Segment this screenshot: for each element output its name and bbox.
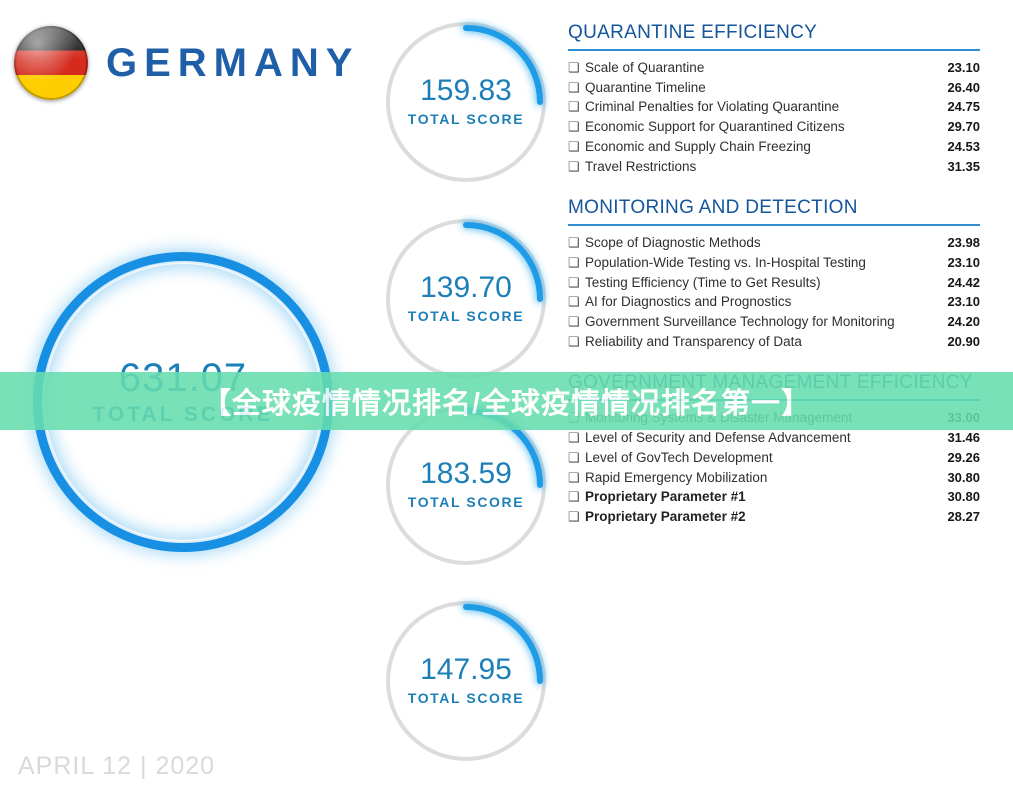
score-row: ❑Level of Security and Defense Advanceme… [568, 428, 980, 448]
score-row-value: 28.27 [924, 507, 980, 527]
score-row-label: Proprietary Parameter #2 [585, 507, 924, 527]
country-name: GERMANY [106, 41, 359, 86]
checkbox-icon: ❑ [568, 157, 585, 177]
score-row: ❑Proprietary Parameter #130.80 [568, 487, 980, 507]
score-row-value: 24.75 [924, 97, 980, 117]
score-row: ❑Economic and Supply Chain Freezing24.53 [568, 137, 980, 157]
score-row: ❑Rapid Emergency Mobilization30.80 [568, 468, 980, 488]
score-row-label: Quarantine Timeline [585, 78, 924, 98]
score-row-value: 23.10 [924, 253, 980, 273]
checkbox-icon: ❑ [568, 448, 585, 468]
score-section: MONITORING AND DETECTION❑Scope of Diagno… [568, 197, 980, 351]
checkbox-icon: ❑ [568, 312, 585, 332]
score-row-value: 30.80 [924, 468, 980, 488]
score-row: ❑Criminal Penalties for Violating Quaran… [568, 97, 980, 117]
score-row-value: 31.46 [924, 428, 980, 448]
score-row-label: Level of Security and Defense Advancemen… [585, 428, 924, 448]
score-row: ❑Government Surveillance Technology for … [568, 312, 980, 332]
checkbox-icon: ❑ [568, 292, 585, 312]
ring-text: 159.83TOTAL SCORE [386, 74, 546, 127]
report-date: APRIL 12 | 2020 [18, 752, 215, 781]
country-header: GERMANY [14, 26, 359, 100]
score-row-value: 23.10 [924, 58, 980, 78]
score-row-label: Testing Efficiency (Time to Get Results) [585, 273, 924, 293]
score-row-value: 23.98 [924, 233, 980, 253]
ring-text: 183.59TOTAL SCORE [386, 457, 546, 510]
score-row-value: 29.70 [924, 117, 980, 137]
category-score-ring: 139.70TOTAL SCORE [386, 219, 546, 379]
checkbox-icon: ❑ [568, 253, 585, 273]
checkbox-icon: ❑ [568, 78, 585, 98]
score-row-value: 26.40 [924, 78, 980, 98]
score-row-label: AI for Diagnostics and Prognostics [585, 292, 924, 312]
score-row-value: 24.42 [924, 273, 980, 293]
checkbox-icon: ❑ [568, 428, 585, 448]
overlay-banner-text: 【全球疫情情况排名/全球疫情情况排名第一】 [202, 380, 811, 422]
ring-score-value: 139.70 [386, 271, 546, 305]
ring-text: 147.95TOTAL SCORE [386, 653, 546, 706]
score-row: ❑Testing Efficiency (Time to Get Results… [568, 273, 980, 293]
category-score-ring: 159.83TOTAL SCORE [386, 22, 546, 182]
score-row-label: Criminal Penalties for Violating Quarant… [585, 97, 924, 117]
checkbox-icon: ❑ [568, 137, 585, 157]
score-row-label: Scale of Quarantine [585, 58, 924, 78]
ring-text: 139.70TOTAL SCORE [386, 271, 546, 324]
score-row: ❑Population-Wide Testing vs. In-Hospital… [568, 253, 980, 273]
section-title: MONITORING AND DETECTION [568, 197, 980, 219]
score-row: ❑Economic Support for Quarantined Citize… [568, 117, 980, 137]
germany-flag-icon [14, 26, 88, 100]
score-row-label: Economic Support for Quarantined Citizen… [585, 117, 924, 137]
ring-score-value: 159.83 [386, 74, 546, 108]
score-row-label: Population-Wide Testing vs. In-Hospital … [585, 253, 924, 273]
score-sections: QUARANTINE EFFICIENCY❑Scale of Quarantin… [568, 22, 980, 548]
ring-score-label: TOTAL SCORE [386, 690, 546, 706]
checkbox-icon: ❑ [568, 58, 585, 78]
score-row-value: 20.90 [924, 332, 980, 352]
score-row: ❑Reliability and Transparency of Data20.… [568, 332, 980, 352]
score-row: ❑Scale of Quarantine23.10 [568, 58, 980, 78]
score-row-label: Reliability and Transparency of Data [585, 332, 924, 352]
overlay-banner: 【全球疫情情况排名/全球疫情情况排名第一】 [0, 372, 1013, 430]
checkbox-icon: ❑ [568, 468, 585, 488]
score-row: ❑Scope of Diagnostic Methods23.98 [568, 233, 980, 253]
score-row-value: 24.20 [924, 312, 980, 332]
score-row: ❑Level of GovTech Development29.26 [568, 448, 980, 468]
ring-score-label: TOTAL SCORE [386, 494, 546, 510]
checkbox-icon: ❑ [568, 273, 585, 293]
score-row-label: Level of GovTech Development [585, 448, 924, 468]
section-divider [568, 224, 980, 226]
ring-score-value: 183.59 [386, 457, 546, 491]
checkbox-icon: ❑ [568, 233, 585, 253]
checkbox-icon: ❑ [568, 507, 585, 527]
score-row-label: Travel Restrictions [585, 157, 924, 177]
score-row-label: Rapid Emergency Mobilization [585, 468, 924, 488]
score-row: ❑Proprietary Parameter #228.27 [568, 507, 980, 527]
section-title: QUARANTINE EFFICIENCY [568, 22, 980, 44]
checkbox-icon: ❑ [568, 332, 585, 352]
score-row-value: 23.10 [924, 292, 980, 312]
checkbox-icon: ❑ [568, 487, 585, 507]
checkbox-icon: ❑ [568, 97, 585, 117]
ring-score-label: TOTAL SCORE [386, 308, 546, 324]
score-row: ❑Quarantine Timeline26.40 [568, 78, 980, 98]
score-row-label: Economic and Supply Chain Freezing [585, 137, 924, 157]
score-row-value: 30.80 [924, 487, 980, 507]
score-row: ❑AI for Diagnostics and Prognostics23.10 [568, 292, 980, 312]
score-row-label: Scope of Diagnostic Methods [585, 233, 924, 253]
checkbox-icon: ❑ [568, 117, 585, 137]
score-row-value: 29.26 [924, 448, 980, 468]
score-row-label: Government Surveillance Technology for M… [585, 312, 924, 332]
score-row-value: 24.53 [924, 137, 980, 157]
section-divider [568, 49, 980, 51]
ring-score-value: 147.95 [386, 653, 546, 687]
score-row: ❑Travel Restrictions31.35 [568, 157, 980, 177]
ring-score-label: TOTAL SCORE [386, 111, 546, 127]
category-score-ring: 147.95TOTAL SCORE [386, 601, 546, 761]
score-row-label: Proprietary Parameter #1 [585, 487, 924, 507]
score-row-value: 31.35 [924, 157, 980, 177]
score-section: QUARANTINE EFFICIENCY❑Scale of Quarantin… [568, 22, 980, 176]
